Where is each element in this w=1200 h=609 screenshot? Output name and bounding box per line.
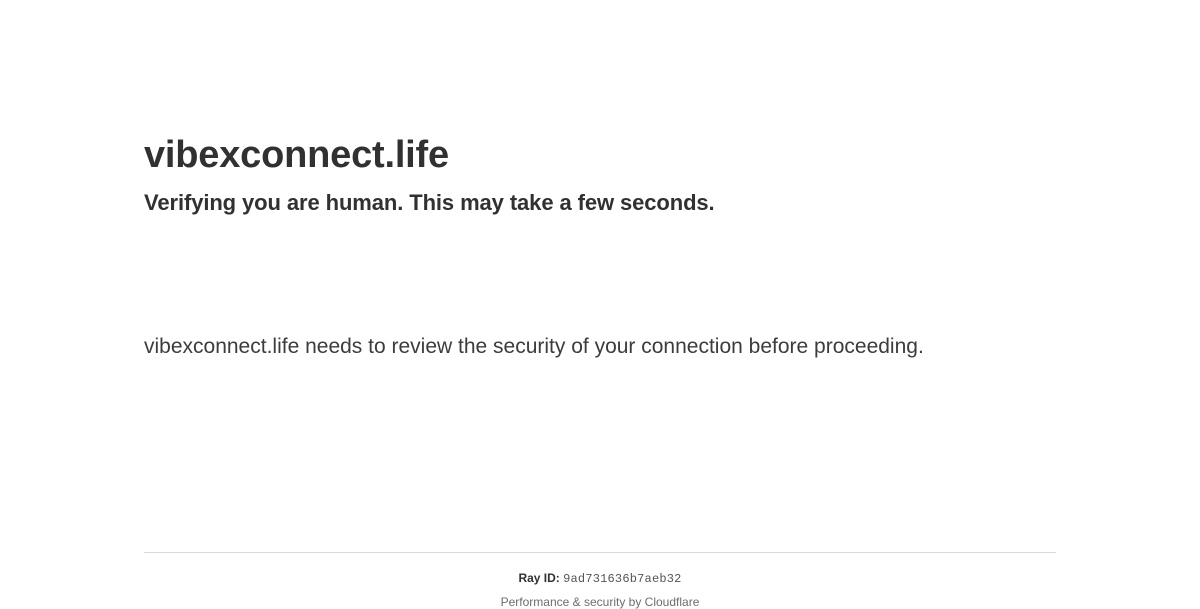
ray-id-value: 9ad731636b7aeb32 [563, 572, 681, 586]
attribution-line: Performance & security by Cloudflare [144, 586, 1056, 609]
verification-status-text: Verifying you are human. This may take a… [144, 180, 1056, 218]
ray-id-line: Ray ID: 9ad731636b7aeb32 [144, 553, 1056, 586]
challenge-content: vibexconnect.life Verifying you are huma… [144, 0, 1056, 365]
challenge-page: vibexconnect.life Verifying you are huma… [0, 0, 1200, 600]
cloudflare-link[interactable]: Cloudflare [645, 595, 700, 609]
footer: Ray ID: 9ad731636b7aeb32 Performance & s… [144, 552, 1056, 609]
ray-id-label: Ray ID: [518, 571, 559, 585]
challenge-description: vibexconnect.life needs to review the se… [144, 303, 944, 365]
attribution-prefix: Performance & security by [501, 595, 645, 609]
page-title: vibexconnect.life [144, 0, 1056, 180]
challenge-widget-slot[interactable] [144, 238, 444, 303]
